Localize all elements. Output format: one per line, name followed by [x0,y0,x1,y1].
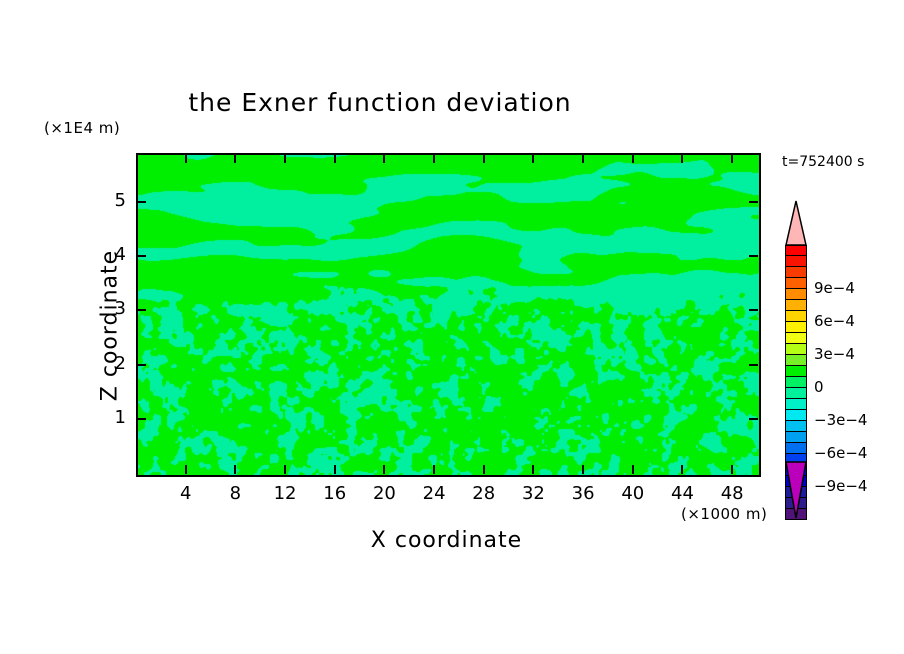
x-tick-mark-top [185,154,187,163]
y-tick-mark-right [749,255,758,257]
x-tick-mark-top [234,154,236,163]
x-tick-mark-top [582,154,584,163]
x-tick-mark [532,465,534,474]
x-tick-mark-top [681,154,683,163]
colorbar-segment [785,256,807,267]
x-tick-mark-top [334,154,336,163]
x-tick-label: 16 [315,483,355,504]
x-tick-mark-top [383,154,385,163]
colorbar-segment [785,410,807,421]
x-tick-mark-top [284,154,286,163]
colorbar-segment [785,289,807,300]
colorbar-bottom-arrow-icon [785,461,807,519]
colorbar-tick-label: 6e−4 [814,312,855,330]
colorbar-segment [785,245,807,256]
x-tick-label: 48 [712,483,752,504]
x-tick-label: 40 [613,483,653,504]
y-tick-mark-right [749,309,758,311]
x-axis-title: X coordinate [136,528,757,553]
colorbar-tick-label: −6e−4 [814,444,867,462]
time-annotation: t=752400 s [782,154,864,170]
y-tick-label: 2 [86,353,126,374]
colorbar-segment [785,322,807,333]
x-tick-mark [632,465,634,474]
colorbar-segment [785,443,807,454]
colorbar-tick-label: 9e−4 [814,279,855,297]
x-axis-unit-label: (×1000 m) [681,505,767,523]
colorbar-segment [785,366,807,377]
x-tick-mark [284,465,286,474]
colorbar-segment [785,388,807,399]
y-tick-label: 5 [86,190,126,211]
colorbar-segment [785,333,807,344]
y-tick-mark [137,201,146,203]
x-tick-label: 36 [563,483,603,504]
x-tick-mark [483,465,485,474]
x-tick-mark [433,465,435,474]
colorbar-segment [785,432,807,443]
x-tick-mark [383,465,385,474]
colorbar-segment [785,311,807,322]
x-tick-label: 20 [364,483,404,504]
y-tick-mark-right [749,418,758,420]
x-tick-mark-top [731,154,733,163]
x-tick-label: 44 [662,483,702,504]
y-tick-mark [137,418,146,420]
x-tick-mark-top [483,154,485,163]
y-tick-label: 3 [86,298,126,319]
x-tick-label: 12 [265,483,305,504]
colorbar-tick-label: 3e−4 [814,345,855,363]
x-tick-mark-top [433,154,435,163]
x-tick-label: 24 [414,483,454,504]
colorbar-top-arrow-icon [785,200,807,246]
y-axis-unit-label: (×1E4 m) [44,119,120,137]
x-tick-mark [234,465,236,474]
page-title: the Exner function deviation [0,88,760,117]
colorbar-segment [785,300,807,311]
y-tick-mark [137,364,146,366]
y-tick-mark [137,255,146,257]
colorbar-segment [785,344,807,355]
colorbar-segment [785,267,807,278]
x-tick-mark [681,465,683,474]
colorbar-tick-label: −9e−4 [814,477,867,495]
colorbar-segment [785,421,807,432]
plot-area [136,153,761,477]
colorbar-tick-label: −3e−4 [814,411,867,429]
colorbar-tick-label: 0 [814,378,824,396]
y-tick-label: 4 [86,244,126,265]
y-tick-mark-right [749,201,758,203]
x-tick-label: 4 [166,483,206,504]
x-tick-label: 32 [513,483,553,504]
colorbar-segment [785,355,807,366]
x-tick-mark [334,465,336,474]
y-tick-label: 1 [86,407,126,428]
x-tick-label: 8 [215,483,255,504]
x-tick-mark-top [632,154,634,163]
x-tick-mark [582,465,584,474]
y-tick-mark-right [749,364,758,366]
x-tick-label: 28 [464,483,504,504]
x-tick-mark [185,465,187,474]
y-axis-title: Z coordinate [98,166,123,486]
x-tick-mark [731,465,733,474]
colorbar-segment [785,399,807,410]
colorbar-segment [785,377,807,388]
y-tick-mark [137,309,146,311]
contour-field-canvas [138,155,759,475]
x-tick-mark-top [532,154,534,163]
colorbar-segment [785,278,807,289]
